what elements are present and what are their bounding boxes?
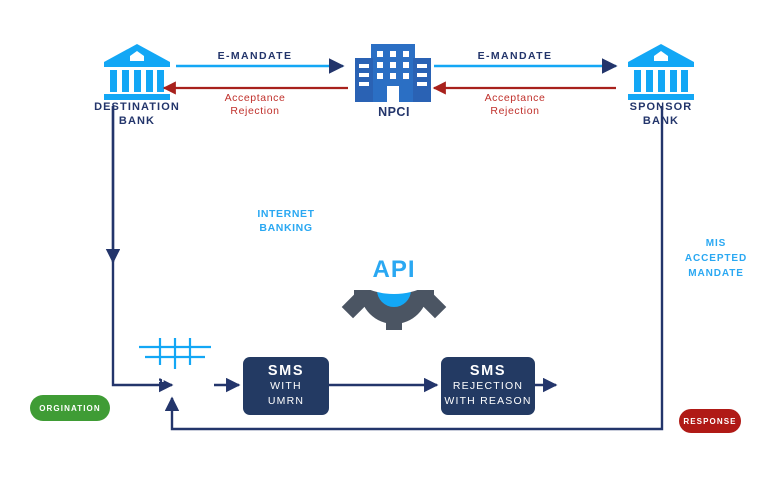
sms-rejection-subtitle: REJECTION WITH REASON bbox=[444, 379, 531, 409]
sponsor-bank-label: SPONSOR BANK bbox=[586, 100, 736, 128]
sms-with-umrn-subtitle: WITH UMRN bbox=[268, 379, 304, 409]
destination-bank-icon bbox=[104, 44, 170, 100]
emandate-left-label: E-MANDATE bbox=[170, 50, 340, 63]
customer-label: CUSTOMER bbox=[553, 373, 639, 386]
diagram-canvas: INTERNET BANKING API Authentication DEST… bbox=[0, 0, 768, 483]
npci-building-icon bbox=[355, 44, 431, 102]
emandate-right-label: E-MANDATE bbox=[430, 50, 600, 63]
sms-with-umrn-box[interactable]: SMS WITH UMRN bbox=[243, 357, 329, 415]
user-circle-icon bbox=[566, 300, 626, 360]
response-badge-label: RESPONSE bbox=[683, 417, 736, 426]
origination-badge[interactable]: ORGINATION bbox=[30, 395, 110, 421]
acceptance-rejection-left-label: Acceptance Rejection bbox=[170, 92, 340, 119]
api-label: API bbox=[352, 255, 436, 286]
sms-rejection-title: SMS bbox=[470, 363, 506, 379]
origination-badge-label: ORGINATION bbox=[39, 404, 101, 413]
mis-accepted-mandate-label: MIS ACCEPTED MANDATE bbox=[668, 236, 764, 281]
sms-rejection-box[interactable]: SMS REJECTION WITH REASON bbox=[441, 357, 535, 415]
sms-with-umrn-title: SMS bbox=[268, 363, 304, 379]
sponsor-bank-icon bbox=[628, 44, 694, 100]
response-badge[interactable]: RESPONSE bbox=[679, 409, 741, 433]
acceptance-rejection-right-label: Acceptance Rejection bbox=[430, 92, 600, 119]
diagram-vector-layer bbox=[0, 0, 768, 483]
corprates-label: CORPRATES bbox=[124, 373, 220, 386]
internet-banking-label: INTERNET BANKING bbox=[238, 208, 334, 236]
people-globe-icon bbox=[139, 300, 211, 370]
